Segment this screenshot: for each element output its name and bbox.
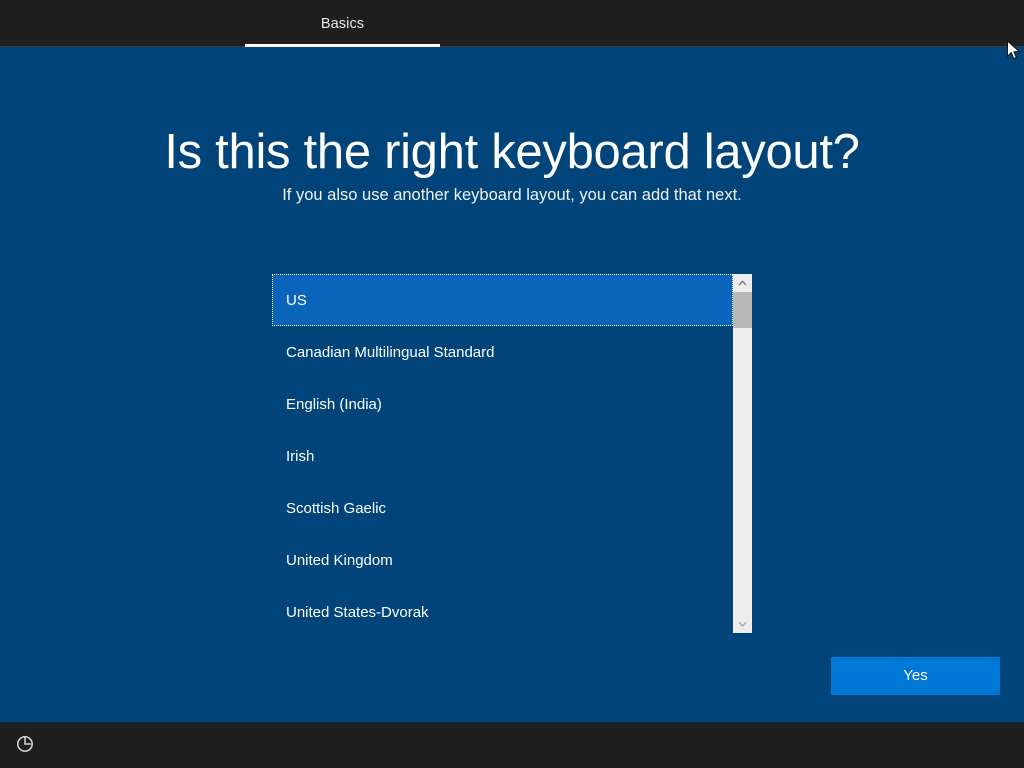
list-item[interactable]: Canadian Multilingual Standard: [272, 326, 733, 378]
list-item-label: Scottish Gaelic: [286, 500, 386, 517]
list-item-label: United Kingdom: [286, 552, 393, 569]
scroll-down-button[interactable]: [733, 615, 752, 633]
list-item[interactable]: Irish: [272, 430, 733, 482]
ease-of-access-icon: [15, 734, 35, 759]
list-item-label: US: [286, 292, 307, 309]
list-item[interactable]: English (India): [272, 378, 733, 430]
chevron-up-icon: [738, 280, 747, 286]
tab-strip: Basics: [245, 0, 440, 47]
list-item-label: English (India): [286, 396, 382, 413]
tab-basics[interactable]: Basics: [245, 0, 440, 47]
list-item-label: Irish: [286, 448, 314, 465]
ease-of-access-button[interactable]: [12, 733, 38, 759]
list-item-label: United States-Dvorak: [286, 604, 429, 621]
setup-screen: Basics Is this the right keyboard layout…: [0, 0, 1024, 768]
keyboard-layout-list: US Canadian Multilingual Standard Englis…: [272, 274, 752, 633]
tab-basics-label: Basics: [321, 16, 364, 32]
list-item[interactable]: United States-Dvorak: [272, 586, 733, 633]
title-bar: Basics: [0, 0, 1024, 47]
scrollbar-thumb[interactable]: [733, 292, 752, 328]
scroll-up-button[interactable]: [733, 274, 752, 292]
keyboard-layout-listbox[interactable]: US Canadian Multilingual Standard Englis…: [272, 274, 733, 633]
page-title: Is this the right keyboard layout?: [0, 122, 1024, 182]
list-item[interactable]: United Kingdom: [272, 534, 733, 586]
list-item-label: Canadian Multilingual Standard: [286, 344, 494, 361]
list-item[interactable]: Scottish Gaelic: [272, 482, 733, 534]
list-item[interactable]: US: [272, 274, 733, 326]
chevron-down-icon: [738, 621, 747, 627]
status-bar: [0, 722, 1024, 768]
list-scrollbar[interactable]: [733, 274, 752, 633]
page-subtitle: If you also use another keyboard layout,…: [0, 184, 1024, 206]
yes-button[interactable]: Yes: [831, 657, 1000, 695]
